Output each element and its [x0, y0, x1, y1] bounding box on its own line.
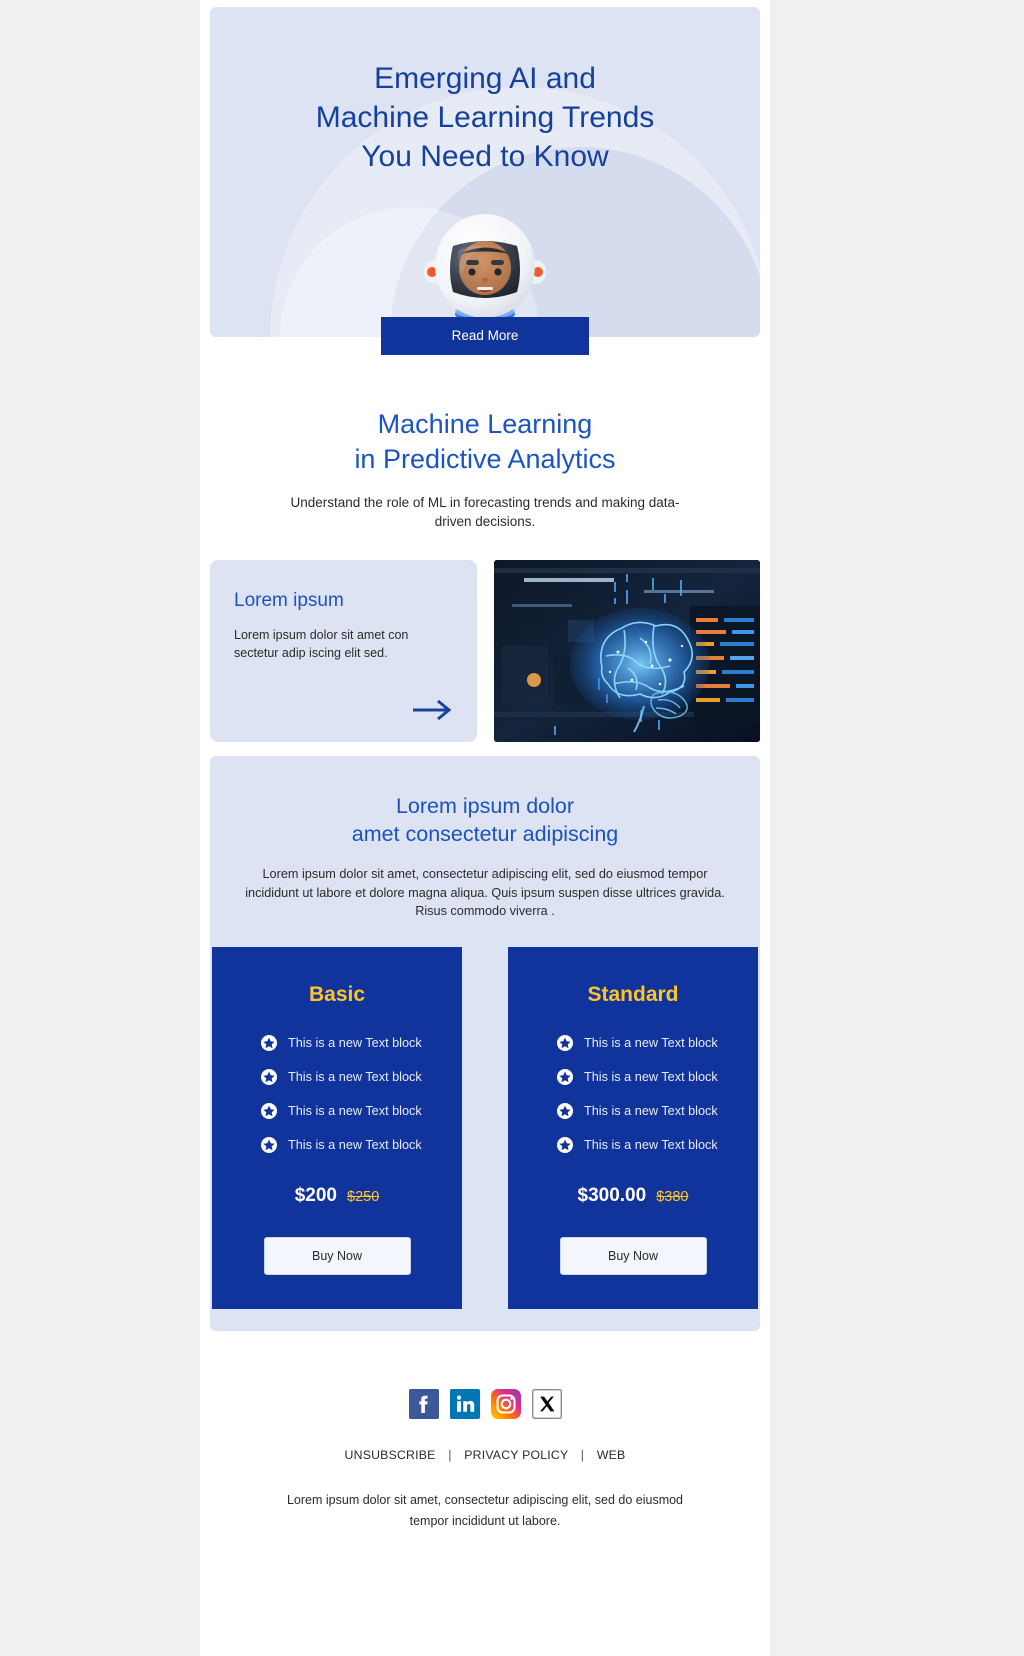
instagram-icon[interactable]	[491, 1389, 521, 1419]
privacy-policy-link[interactable]: PRIVACY POLICY	[464, 1448, 568, 1462]
pricing-section: Lorem ipsum dolor amet consectetur adipi…	[210, 756, 760, 1331]
price-current: $200	[295, 1185, 337, 1207]
web-link[interactable]: WEB	[597, 1448, 626, 1462]
link-separator: |	[581, 1448, 584, 1462]
plan-feature-label: This is a new Text block	[584, 1104, 718, 1118]
star-badge-icon	[261, 1035, 277, 1051]
ml-section: Machine Learning in Predictive Analytics…	[200, 355, 770, 531]
plan-feature-label: This is a new Text block	[288, 1070, 422, 1084]
hero-title: Emerging AI and Machine Learning Trends …	[210, 7, 760, 176]
buy-now-button[interactable]: Buy Now	[560, 1237, 707, 1275]
star-badge-icon	[557, 1069, 573, 1085]
plan-feature-label: This is a new Text block	[584, 1070, 718, 1084]
plan-feature: This is a new Text block	[557, 1137, 736, 1153]
hero-title-line-2: Machine Learning Trends	[210, 98, 760, 137]
star-badge-icon	[261, 1069, 277, 1085]
star-badge-icon	[261, 1103, 277, 1119]
price-row: $300.00 $380	[530, 1185, 736, 1207]
pricing-title-line-2: amet consectetur adipiscing	[244, 820, 726, 848]
facebook-icon[interactable]	[409, 1389, 439, 1419]
plan-feature-label: This is a new Text block	[584, 1036, 718, 1050]
ml-title-line-2: in Predictive Analytics	[210, 442, 760, 477]
star-badge-icon	[261, 1137, 277, 1153]
price-original: $250	[347, 1189, 379, 1205]
plan-name: Standard	[530, 983, 736, 1007]
plan-card-basic: Basic This is a new Text block This is a…	[212, 947, 462, 1309]
pricing-title-line-1: Lorem ipsum dolor	[244, 792, 726, 820]
pricing-header: Lorem ipsum dolor amet consectetur adipi…	[210, 792, 760, 921]
social-links	[210, 1389, 760, 1419]
pricing-body: Lorem ipsum dolor sit amet, consectetur …	[244, 865, 726, 921]
plan-feature: This is a new Text block	[557, 1069, 736, 1085]
linkedin-icon[interactable]	[450, 1389, 480, 1419]
plan-feature-label: This is a new Text block	[584, 1138, 718, 1152]
star-badge-icon	[557, 1035, 573, 1051]
plan-feature-label: This is a new Text block	[288, 1036, 422, 1050]
plan-feature: This is a new Text block	[261, 1137, 440, 1153]
plan-feature: This is a new Text block	[261, 1069, 440, 1085]
pricing-title: Lorem ipsum dolor amet consectetur adipi…	[244, 792, 726, 848]
footer-note: Lorem ipsum dolor sit amet, consectetur …	[270, 1490, 700, 1532]
buy-now-button[interactable]: Buy Now	[264, 1237, 411, 1275]
ml-title-line-1: Machine Learning	[210, 407, 760, 442]
hero-banner: Emerging AI and Machine Learning Trends …	[210, 7, 760, 337]
ml-section-subtitle: Understand the role of ML in forecasting…	[285, 493, 685, 531]
hero-title-line-3: You Need to Know	[210, 137, 760, 176]
plan-feature-label: This is a new Text block	[288, 1104, 422, 1118]
x-twitter-icon[interactable]	[532, 1389, 562, 1419]
lorem-card-body: Lorem ipsum dolor sit amet con sectetur …	[234, 626, 453, 662]
star-badge-icon	[557, 1103, 573, 1119]
read-more-button[interactable]: Read More	[381, 317, 589, 355]
arrow-right-icon[interactable]	[411, 698, 455, 722]
plan-feature: This is a new Text block	[261, 1103, 440, 1119]
feature-row: Lorem ipsum Lorem ipsum dolor sit amet c…	[210, 560, 760, 742]
price-original: $380	[656, 1189, 688, 1205]
price-current: $300.00	[578, 1185, 647, 1207]
plan-card-standard: Standard This is a new Text block This i…	[508, 947, 758, 1309]
hero-title-line-1: Emerging AI and	[210, 59, 760, 98]
plan-name: Basic	[234, 983, 440, 1007]
footer: UNSUBSCRIBE | PRIVACY POLICY | WEB Lorem…	[200, 1331, 770, 1532]
email-body: Emerging AI and Machine Learning Trends …	[200, 0, 770, 1656]
link-separator: |	[448, 1448, 451, 1462]
lorem-ipsum-card[interactable]: Lorem ipsum Lorem ipsum dolor sit amet c…	[210, 560, 477, 742]
plan-feature: This is a new Text block	[261, 1035, 440, 1051]
plan-feature-label: This is a new Text block	[288, 1138, 422, 1152]
star-badge-icon	[557, 1137, 573, 1153]
read-more-container: Read More	[200, 317, 770, 355]
plan-feature: This is a new Text block	[557, 1035, 736, 1051]
unsubscribe-link[interactable]: UNSUBSCRIBE	[345, 1448, 436, 1462]
footer-links: UNSUBSCRIBE | PRIVACY POLICY | WEB	[210, 1448, 760, 1462]
price-row: $200 $250	[234, 1185, 440, 1207]
ml-section-title: Machine Learning in Predictive Analytics	[210, 407, 760, 477]
plan-list: Basic This is a new Text block This is a…	[210, 947, 760, 1309]
plan-feature: This is a new Text block	[557, 1103, 736, 1119]
lorem-card-heading: Lorem ipsum	[234, 590, 453, 612]
ai-brain-image	[494, 560, 760, 742]
